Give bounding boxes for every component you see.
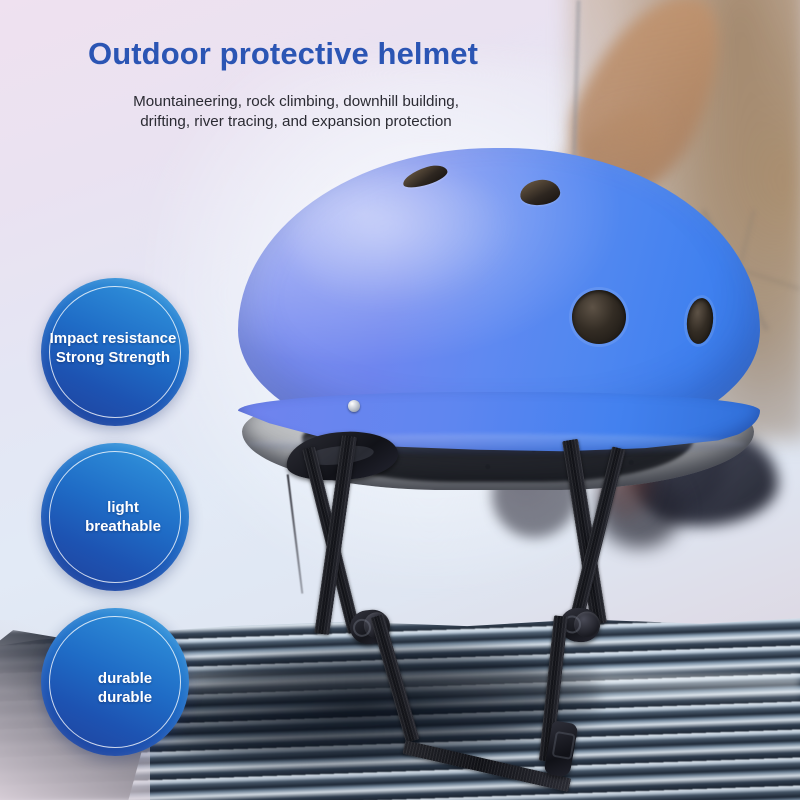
feature-badge-label: durable durable: [90, 669, 160, 707]
strap-left-lower: [370, 614, 419, 743]
badge-2-line-2: breathable: [85, 517, 161, 536]
product-poster: Outdoor protective helmet Mountaineering…: [0, 0, 800, 800]
page-title: Outdoor protective helmet: [88, 36, 478, 72]
badge-3-line-2: durable: [98, 688, 152, 707]
feature-badge-light-breathable: light breathable: [41, 443, 189, 591]
badge-3-line-1: durable: [98, 669, 152, 688]
badge-1-line-2: Strong Strength: [50, 348, 177, 367]
feature-badge-label: light breathable: [77, 498, 169, 536]
page-subtitle: Mountaineering, rock climbing, downhill …: [96, 92, 496, 132]
strap-cord: [287, 474, 304, 593]
feature-badge-impact-resistance: Impact resistance Strong Strength: [41, 278, 189, 426]
feature-badge-label: Impact resistance Strong Strength: [42, 329, 185, 367]
feature-badge-durable: durable durable: [41, 608, 189, 756]
subtitle-line-1: Mountaineering, rock climbing, downhill …: [96, 92, 496, 112]
helmet-strap-assembly: [232, 148, 772, 788]
subtitle-line-2: drifting, river tracing, and expansion p…: [96, 112, 496, 132]
badge-1-line-1: Impact resistance: [50, 329, 177, 348]
badge-2-line-1: light: [85, 498, 161, 517]
